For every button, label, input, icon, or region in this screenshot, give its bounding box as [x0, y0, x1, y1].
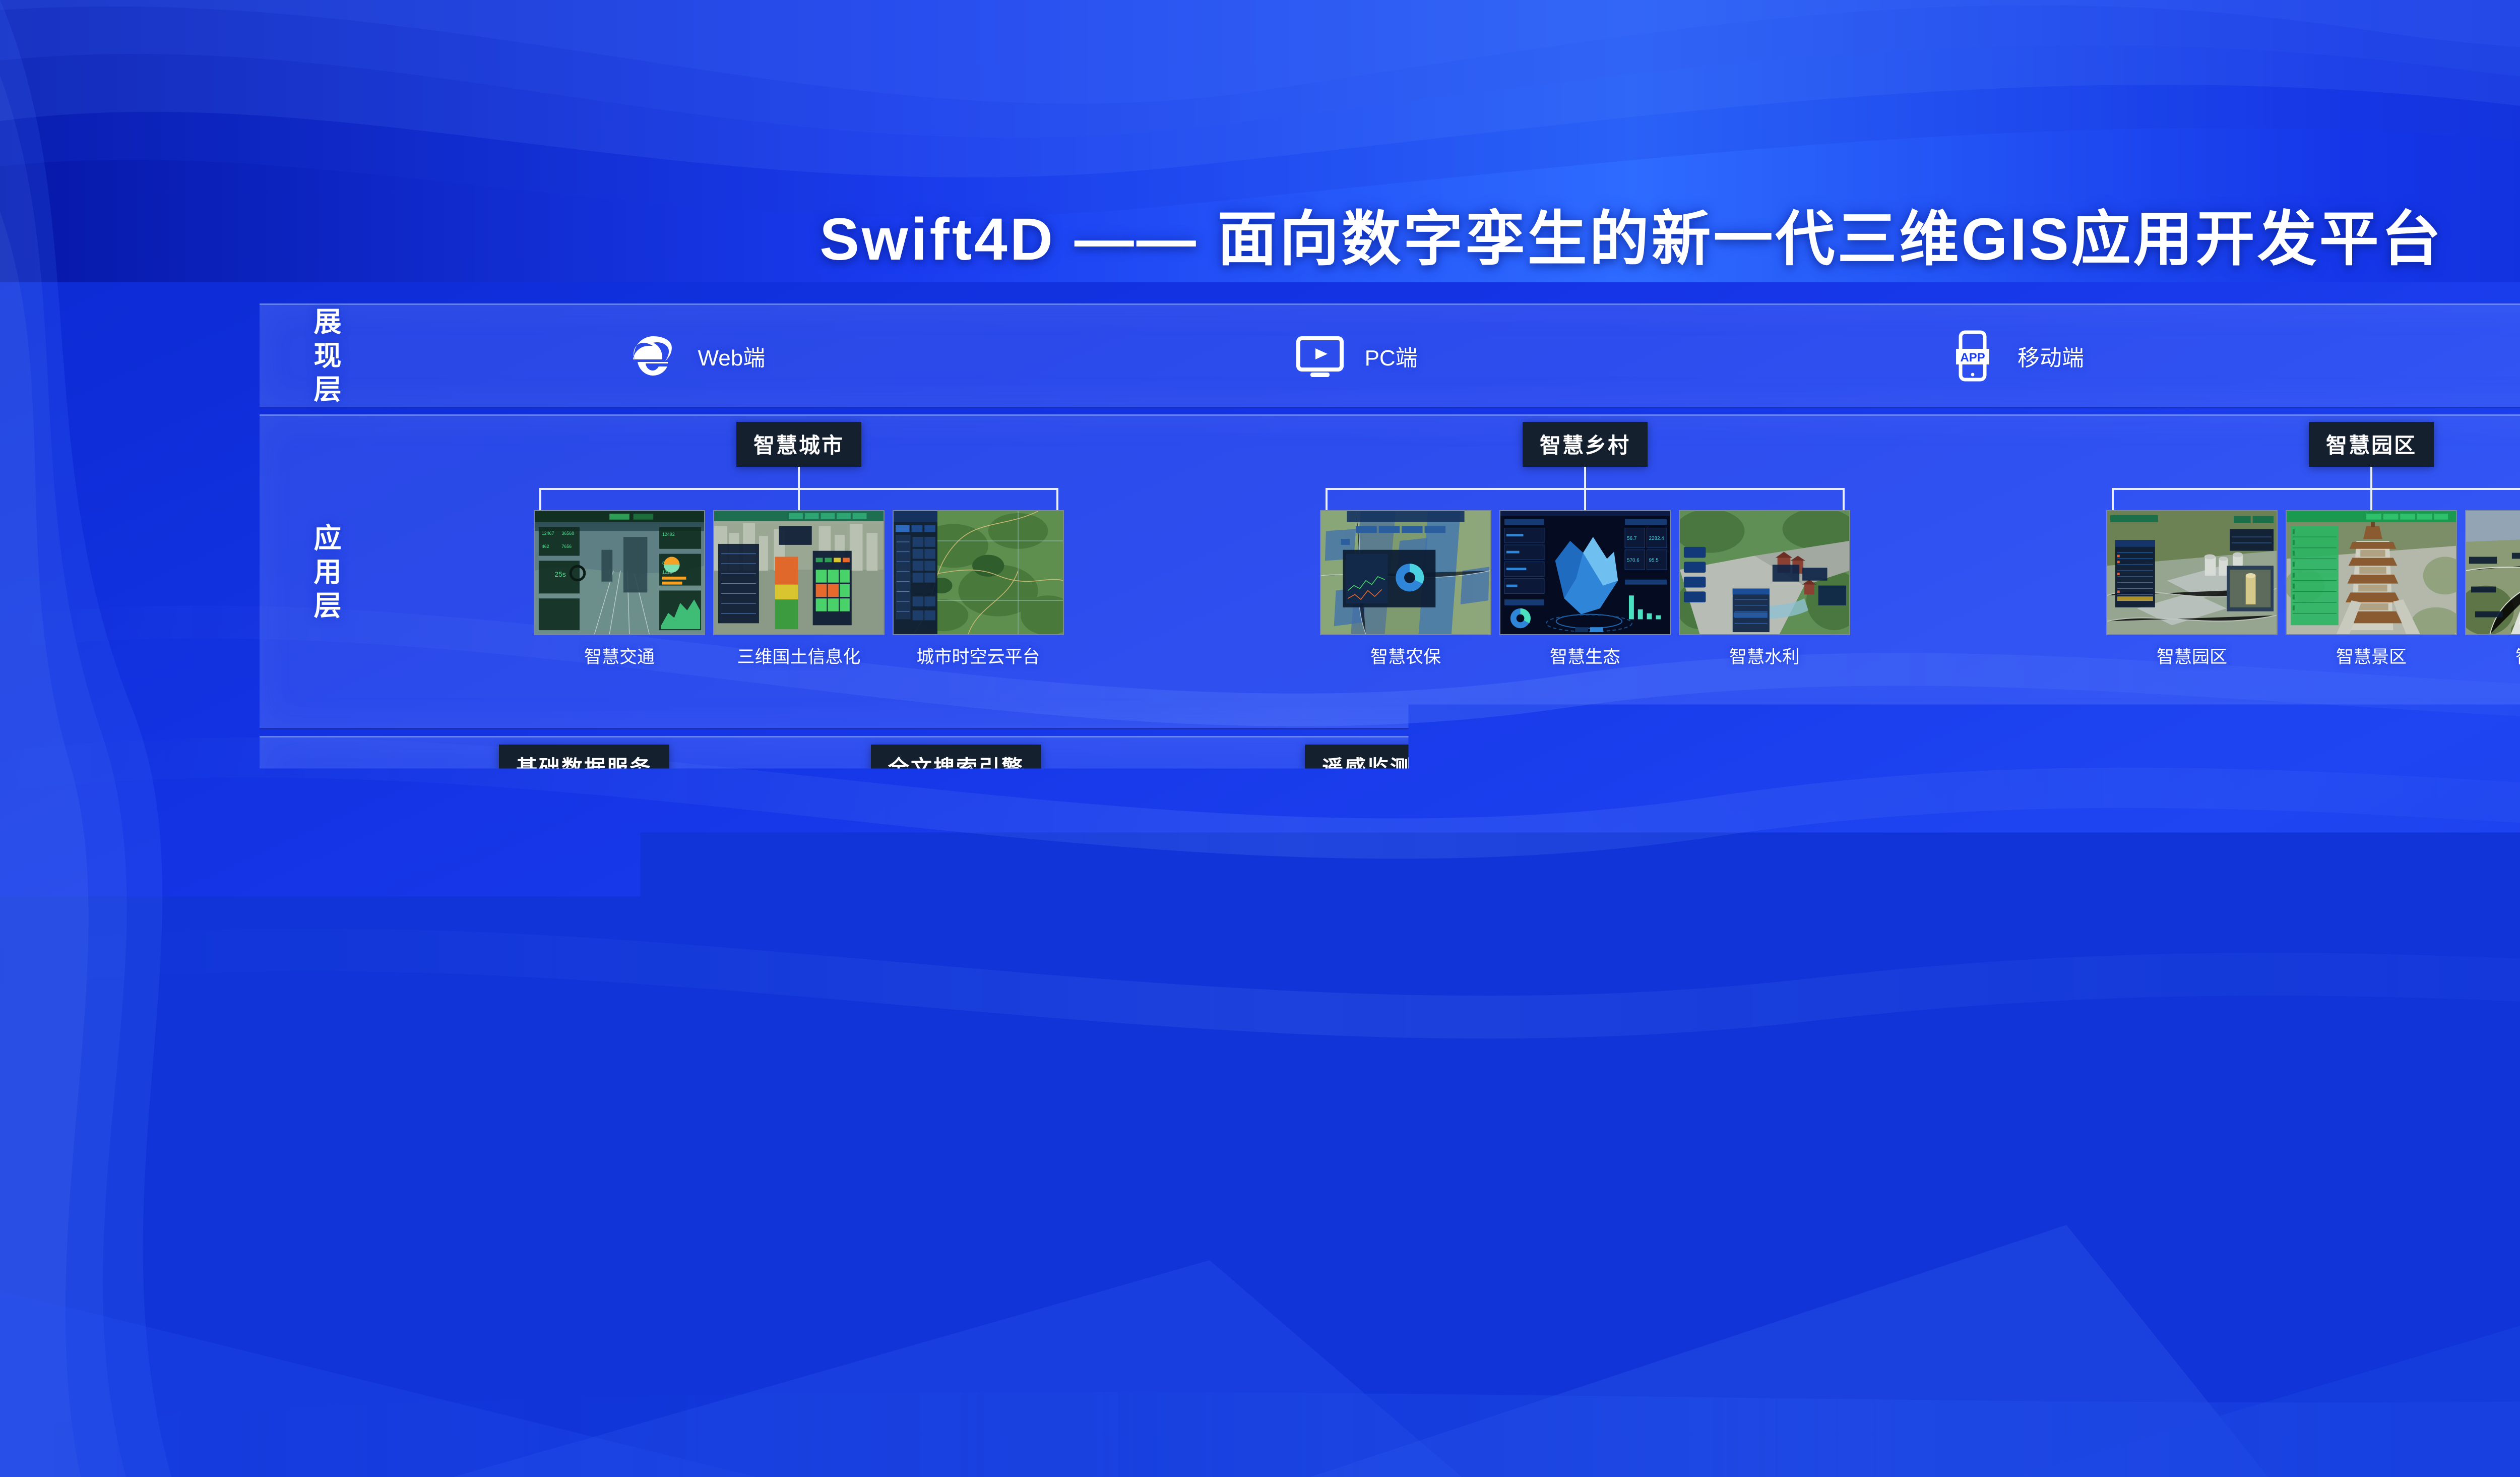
- svg-text:462: 462: [542, 544, 549, 549]
- thumbnail-water-conservancy-3d: [1679, 510, 1850, 635]
- platform-cell-asset-management[interactable]: 资产管理: [2039, 863, 2163, 892]
- svg-text:7656: 7656: [561, 544, 572, 549]
- application-item-land-3d[interactable]: 三维国土信息化: [713, 510, 885, 668]
- application-group-title-smart-city: 智慧城市: [736, 422, 861, 467]
- layer-presentation: 展现层 Web端: [260, 303, 2520, 408]
- platform-cell-attribute-search[interactable]: 属性检索: [898, 829, 1015, 858]
- platform-cell-data-analysis[interactable]: 数据分析: [526, 836, 643, 865]
- thumbnail-traffic-dashboard: 1246736568 4627656 25s 12492 8441226: [534, 510, 705, 635]
- layer-label-resource: 资源层: [306, 1006, 350, 1107]
- resource-cell-hyperspectral[interactable]: 高光谱影像: [610, 1053, 727, 1082]
- resource-cell-video-surveillance-data[interactable]: 视频监控数据: [2250, 1068, 2376, 1097]
- lidar-scanner-icon: [960, 1192, 1006, 1291]
- presentation-item-bigscreen[interactable]: 大屏: [2344, 328, 2520, 384]
- resource-cell-satellite-imagery[interactable]: 卫星遥感影像: [486, 1019, 603, 1049]
- svg-text:APP: APP: [1960, 351, 1985, 364]
- platform-group-intelligent-operation-center: 智能运营中心 综合安防 设施管理 能效管理 资产管理: [1908, 745, 2163, 892]
- svg-text:12492: 12492: [662, 532, 675, 537]
- layer-platform: 平台层 基础数据服务 数据治理 数据分析 数据共享 全文搜索引擎 属性检索 空间…: [260, 736, 2520, 950]
- application-label-smart-water: 智慧水利: [1729, 643, 1800, 668]
- application-label-smart-park: 智慧园区: [2157, 643, 2227, 668]
- application-label-land-3d: 三维国土信息化: [737, 643, 860, 668]
- platform-cell-yield-estimation[interactable]: 产量估测: [1394, 863, 1518, 892]
- application-group-title-smart-park: 智慧园区: [2309, 422, 2434, 467]
- platform-group-fulltext-search-engine: 全文搜索引擎 属性检索 空间检索: [871, 745, 1041, 892]
- application-group-smart-city: 智慧城市: [406, 416, 1192, 728]
- svg-text:570.6: 570.6: [1627, 558, 1640, 563]
- platform-cell-data-sharing[interactable]: 数据共享: [526, 870, 643, 899]
- oblique-photography-camera-icon: [1382, 1192, 1428, 1291]
- page-title: Swift4D —— 面向数字孪生的新一代三维GIS应用开发平台: [0, 191, 2520, 277]
- layer-resource: 资源层 基础地理数据 卫星遥感影像 点云 矢量数据 三维模型 高光谱影像 行政区…: [260, 957, 2520, 1157]
- resource-cell-gis-distribution-server[interactable]: GIS分发服务器: [1220, 1059, 1360, 1088]
- collection-label-handheld: 手持设备: [2339, 1228, 2409, 1254]
- collection-item-cctv[interactable]: 视频监控设备: [1685, 1192, 2125, 1291]
- svg-text:ULTRACAM: ULTRACAM: [531, 1216, 556, 1221]
- ultracam-frame-camera-icon: ULTRACAM: [512, 1192, 558, 1291]
- presentation-item-web[interactable]: Web端: [365, 328, 1025, 384]
- layer-label-platform: 平台层: [306, 792, 350, 894]
- resource-cell-equipment-operation-data[interactable]: 设备运行数据: [2383, 1068, 2509, 1097]
- svg-text:2282.4: 2282.4: [1649, 536, 1664, 541]
- platform-cell-facility-management[interactable]: 设施管理: [2039, 829, 2163, 858]
- application-label-smart-port: 智慧港口: [2515, 643, 2520, 668]
- application-label-spacetime-cloud: 城市时空云平台: [916, 643, 1040, 668]
- layer-collection: 采集层 ULTRACAM: [260, 1164, 2520, 1318]
- platform-cell-planting-structure-analysis[interactable]: 种植结构分析: [1263, 829, 1387, 858]
- resource-group-title-business-data: 业务数据: [2317, 963, 2442, 1008]
- presentation-item-mobile[interactable]: APP 移动端: [1685, 328, 2345, 384]
- collection-item-oblique-camera[interactable]: 倾斜摄影相机: [1245, 1192, 1685, 1291]
- svg-text:12467: 12467: [542, 531, 554, 536]
- collection-item-lidar[interactable]: 激光雷达: [805, 1192, 1245, 1291]
- collection-label-frame-camera: 框幅式相机: [571, 1228, 659, 1254]
- resource-cell-4d-data[interactable]: 4D数据: [486, 1087, 603, 1116]
- resource-group-title-basic-geographic-data: 基础地理数据: [583, 963, 753, 1008]
- application-item-smart-ecology[interactable]: 56.72282.4 570.695.5: [1499, 510, 1671, 668]
- application-item-spacetime-cloud[interactable]: 城市时空云平台: [893, 510, 1064, 668]
- layer-label-collection: 采集层: [306, 1191, 350, 1292]
- resource-cell-multispectral[interactable]: 多光谱影像: [610, 1087, 727, 1116]
- platform-group-remote-sensing-monitoring: 遥感监测服务 种植结构分析 病虫灾害监测 作物长势监测 产量估测: [1263, 745, 1518, 892]
- svg-text:95.5: 95.5: [1649, 558, 1659, 563]
- thumbnail-farmland-parcels: [1320, 510, 1491, 635]
- resource-cell-3d-model[interactable]: 三维模型: [486, 1053, 603, 1082]
- resource-group-business-data: 业务数据 业务专题数据 业务实施数据 视频监控数据 设备运行数据: [2250, 963, 2509, 1097]
- collection-item-handheld[interactable]: 手持设备: [2124, 1192, 2520, 1291]
- presentation-label-pc: PC端: [1365, 340, 1418, 372]
- platform-cell-data-governance[interactable]: 数据治理: [526, 802, 643, 831]
- thumbnail-spacetime-cloud-map: [893, 510, 1064, 635]
- platform-cell-energy-management[interactable]: 能效管理: [1908, 863, 2032, 892]
- presentation-items: Web端 PC端: [365, 305, 2520, 407]
- platform-group-title-remote-sensing-monitoring: 遥感监测服务: [1305, 745, 1475, 789]
- collection-label-lidar: 激光雷达: [1020, 1228, 1090, 1254]
- resource-cell-database-driver[interactable]: 数据库驱动: [1220, 991, 1360, 1020]
- handheld-device-icon: [2279, 1192, 2325, 1291]
- application-item-smart-park[interactable]: 智慧园区: [2106, 510, 2278, 668]
- presentation-label-mobile: 移动端: [2018, 340, 2084, 372]
- thumbnail-ecology-dark-dashboard: 56.72282.4 570.695.5: [1499, 510, 1671, 635]
- layer-label-application: 应用层: [306, 521, 350, 623]
- connector-smart-village: [1192, 467, 1978, 510]
- connector-smart-city: [406, 467, 1192, 510]
- application-label-smart-traffic: 智慧交通: [584, 643, 655, 668]
- svg-text:36568: 36568: [561, 531, 574, 536]
- platform-cell-pest-disaster-monitoring[interactable]: 病虫灾害监测: [1394, 829, 1518, 858]
- platform-cell-integrated-security[interactable]: 综合安防: [1908, 829, 2032, 858]
- thumbnail-scenic-pagoda-3d: [2286, 510, 2457, 635]
- arrow-left-icon: [1585, 1049, 1676, 1082]
- application-label-smart-scenic: 智慧景区: [2336, 643, 2407, 668]
- presentation-label-web: Web端: [698, 340, 766, 372]
- collection-item-frame-camera[interactable]: ULTRACAM 框幅式相机: [365, 1192, 805, 1291]
- svg-text:25s: 25s: [555, 571, 566, 578]
- platform-group-basic-data-service: 基础数据服务 数据治理 数据分析 数据共享: [499, 745, 669, 899]
- presentation-item-pc[interactable]: PC端: [1025, 328, 1685, 384]
- application-item-smart-traffic[interactable]: 1246736568 4627656 25s 12492 8441226: [534, 510, 705, 668]
- resource-cell-point-cloud[interactable]: 点云: [610, 1019, 727, 1049]
- application-item-smart-agri-insurance[interactable]: 智慧农保: [1320, 510, 1491, 668]
- application-group-smart-park: 智慧园区: [1978, 416, 2520, 728]
- resource-group-basic-geographic-data: 基础地理数据 卫星遥感影像 点云 矢量数据 三维模型 高光谱影像 行政区划 4D…: [486, 963, 850, 1116]
- application-group-title-smart-village: 智慧乡村: [1523, 422, 1648, 467]
- thumbnail-port-aerial: [2465, 510, 2520, 635]
- collection-label-oblique-camera: 倾斜摄影相机: [1441, 1228, 1547, 1254]
- platform-group-title-intelligent-operation-center: 智能运营中心: [1950, 745, 2120, 789]
- thumbnail-industrial-park-3d: [2106, 510, 2278, 635]
- monitor-play-icon: [1292, 328, 1348, 384]
- platform-group-title-basic-data-service: 基础数据服务: [499, 745, 669, 789]
- resource-cell-spatial-db-engine[interactable]: 空间数据库引擎: [1220, 1025, 1360, 1054]
- platform-cell-crop-growth-monitoring[interactable]: 作物长势监测: [1263, 863, 1387, 892]
- svg-text:56.7: 56.7: [1627, 536, 1636, 541]
- cctv-dome-camera-icon: [1822, 1192, 1868, 1291]
- layer-application: 应用层 智慧城市: [260, 414, 2520, 729]
- application-item-smart-water[interactable]: 智慧水利: [1679, 510, 1850, 668]
- resource-group-database-stack: 数据库驱动 空间数据库引擎 GIS分发服务器: [1197, 978, 1383, 1100]
- connector-smart-park: [1978, 467, 2520, 510]
- application-label-smart-ecology: 智慧生态: [1550, 643, 1620, 668]
- application-item-smart-scenic[interactable]: 智慧景区: [2286, 510, 2457, 668]
- resource-cell-vector-data[interactable]: 矢量数据: [733, 1019, 850, 1049]
- resource-cell-business-thematic-data[interactable]: 业务专题数据: [2250, 1034, 2376, 1064]
- resource-cell-administrative-division[interactable]: 行政区划: [733, 1053, 850, 1082]
- internet-explorer-icon: [625, 328, 681, 384]
- arrow-right-icon: [1065, 1049, 1156, 1082]
- collection-label-cctv: 视频监控设备: [1881, 1228, 1987, 1254]
- thumbnail-land-3d-city: [713, 510, 885, 635]
- application-label-smart-agri-insurance: 智慧农保: [1370, 643, 1441, 668]
- layer-label-presentation: 展现层: [306, 305, 350, 406]
- platform-cell-spatial-search[interactable]: 空间检索: [898, 863, 1015, 892]
- mobile-app-icon: APP: [1945, 328, 2000, 384]
- application-item-smart-port[interactable]: 智慧港口: [2465, 510, 2520, 668]
- resource-cell-poi[interactable]: POI(兴趣点): [733, 1087, 850, 1116]
- resource-cell-business-implementation-data[interactable]: 业务实施数据: [2383, 1034, 2509, 1064]
- platform-group-title-fulltext-search-engine: 全文搜索引擎: [871, 745, 1041, 789]
- application-group-smart-village: 智慧乡村: [1192, 416, 1978, 728]
